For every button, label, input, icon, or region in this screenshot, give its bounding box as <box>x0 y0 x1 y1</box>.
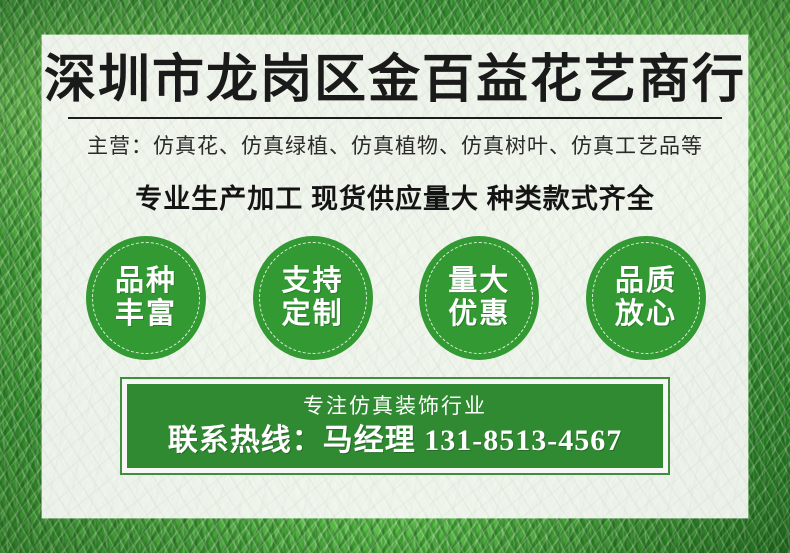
feature-badge-line-2: 丰富 <box>115 298 177 331</box>
page-title: 深圳市龙岗区金百益花艺商行 <box>42 50 748 112</box>
promo-banner: 深圳市龙岗区金百益花艺商行 主营：仿真花、仿真绿植、仿真植物、仿真树叶、仿真工艺… <box>0 0 790 553</box>
feature-badge-line-2: 放心 <box>615 298 677 331</box>
contact-tagline: 专注仿真装饰行业 <box>303 392 487 421</box>
feature-badge-line-1: 量大 <box>448 265 510 298</box>
feature-badge-line-1: 品种 <box>115 265 177 298</box>
feature-badge-line-2: 优惠 <box>448 298 510 331</box>
main-products-subtitle: 主营：仿真花、仿真绿植、仿真植物、仿真树叶、仿真工艺品等 <box>42 127 748 165</box>
feature-badge-variety: 品种 丰富 <box>86 236 206 360</box>
content-panel-inner: 深圳市龙岗区金百益花艺商行 主营：仿真花、仿真绿植、仿真植物、仿真树叶、仿真工艺… <box>42 35 748 518</box>
feature-badge-list: 品种 丰富 支持 定制 量大 优惠 品质 放心 <box>86 235 706 361</box>
title-divider <box>68 117 722 119</box>
feature-badge-customization: 支持 定制 <box>253 236 373 360</box>
slogan-text: 专业生产加工 现货供应量大 种类款式齐全 <box>42 176 748 222</box>
feature-badge-line-1: 品质 <box>615 265 677 298</box>
feature-badge-line-1: 支持 <box>282 265 344 298</box>
contact-box: 专注仿真装饰行业 联系热线：马经理 131-8513-4567 <box>120 377 670 475</box>
contact-box-inner: 专注仿真装饰行业 联系热线：马经理 131-8513-4567 <box>127 384 663 468</box>
content-panel: 深圳市龙岗区金百益花艺商行 主营：仿真花、仿真绿植、仿真植物、仿真树叶、仿真工艺… <box>42 35 748 518</box>
contact-hotline: 联系热线：马经理 131-8513-4567 <box>168 421 622 461</box>
feature-badge-bulk-discount: 量大 优惠 <box>419 236 539 360</box>
feature-badge-line-2: 定制 <box>282 298 344 331</box>
feature-badge-quality: 品质 放心 <box>586 236 706 360</box>
